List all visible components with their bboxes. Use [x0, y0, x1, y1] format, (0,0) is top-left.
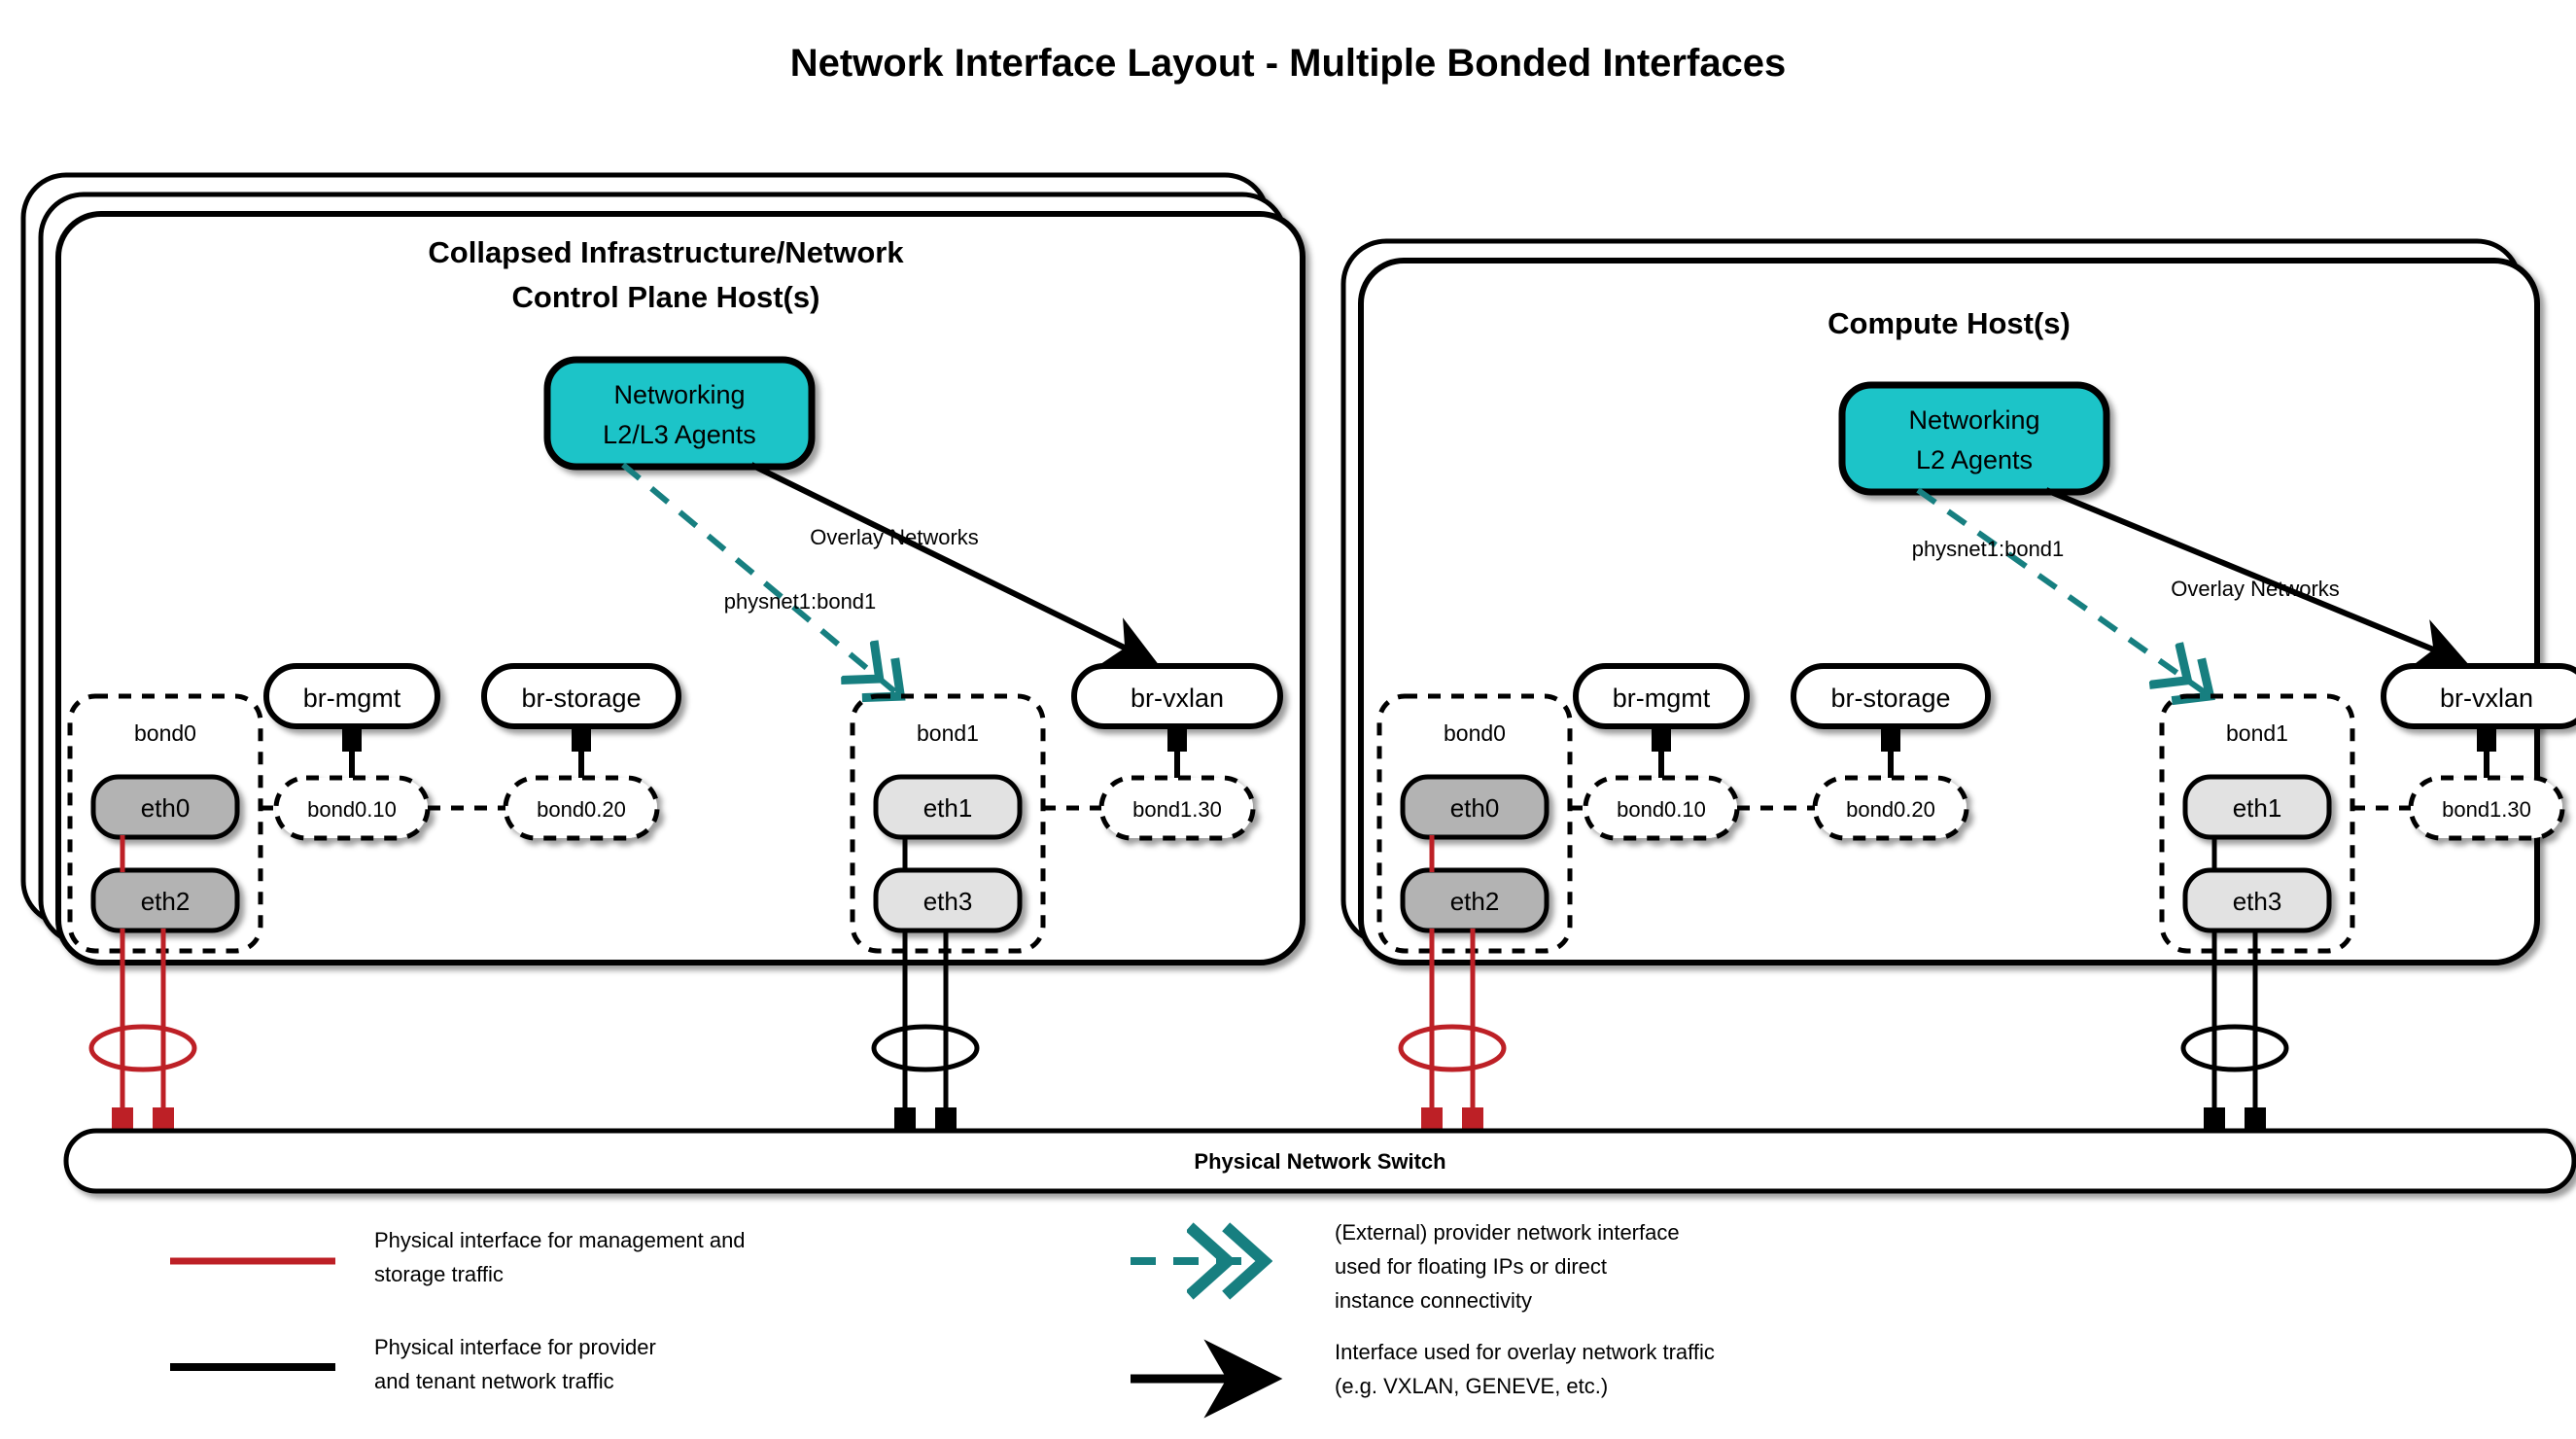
bond-grouping-indicator	[874, 1027, 977, 1070]
vlan-interface-label: bond0.10	[307, 797, 397, 822]
legend-text-line: storage traffic	[374, 1262, 504, 1286]
interface-label-eth1: eth1	[923, 793, 973, 823]
overlay-network-edge-label: Overlay Networks	[2171, 577, 2340, 601]
bond-grouping-indicator	[2183, 1027, 2286, 1070]
legend-text-line: used for floating IPs or direct	[1335, 1254, 1607, 1279]
legend-item-legend-red: Physical interface for management andsto…	[170, 1228, 746, 1286]
switch-port	[1421, 1107, 1443, 1131]
bond-label: bond1	[2226, 720, 2288, 746]
legend-item-legend-black: Physical interface for providerand tenan…	[170, 1335, 656, 1393]
switch-port	[2245, 1107, 2266, 1131]
bridge-label: br-vxlan	[1131, 684, 1224, 713]
bond-label: bond0	[134, 720, 196, 746]
bridge-label: br-mgmt	[1613, 684, 1711, 713]
agent-label-line1: Networking	[1908, 405, 2039, 435]
switch-port	[894, 1107, 916, 1131]
switch-port	[153, 1107, 174, 1131]
bridge-port-stub	[1652, 726, 1671, 752]
agent-box[interactable]	[547, 360, 812, 467]
bridge-port-stub	[2477, 726, 2496, 752]
vlan-interface-label: bond1.30	[2442, 797, 2531, 822]
interface-label-eth3: eth3	[2233, 887, 2282, 916]
legend-text-line: (e.g. VXLAN, GENEVE, etc.)	[1335, 1374, 1608, 1398]
legend-text-line: instance connectivity	[1335, 1288, 1532, 1313]
interface-label-eth0: eth0	[1450, 793, 1500, 823]
agent-label-line1: Networking	[613, 380, 745, 409]
provider-network-edge-label: physnet1:bond1	[724, 589, 877, 614]
bridge-port-stub	[572, 726, 591, 752]
switch-port	[112, 1107, 133, 1131]
interface-label-eth2: eth2	[141, 887, 191, 916]
vlan-interface-label: bond0.20	[537, 797, 626, 822]
agent-label-line2: L2 Agents	[1916, 445, 2033, 474]
interface-label-eth1: eth1	[2233, 793, 2282, 823]
bond-grouping-indicator	[91, 1027, 194, 1070]
legend-text-line: Physical interface for management and	[374, 1228, 746, 1252]
bridge-label: br-storage	[521, 684, 641, 713]
interface-label-eth0: eth0	[141, 793, 191, 823]
vlan-interface-label: bond1.30	[1132, 797, 1222, 822]
legend: Physical interface for management andsto…	[170, 1220, 1715, 1398]
interface-label-eth3: eth3	[923, 887, 973, 916]
bond-label: bond1	[917, 720, 979, 746]
legend-item-legend-teal: (External) provider network interfaceuse…	[1131, 1220, 1680, 1313]
bond-grouping-indicator	[1401, 1027, 1504, 1070]
agent-box[interactable]	[1842, 385, 2106, 492]
provider-network-edge-label: physnet1:bond1	[1912, 537, 2065, 561]
host-card	[58, 214, 1303, 963]
physical-switch: Physical Network Switch	[66, 1131, 2574, 1191]
host-card	[1361, 261, 2537, 963]
vlan-interface-label: bond0.20	[1846, 797, 1935, 822]
network-diagram: Network Interface Layout - Multiple Bond…	[0, 0, 2576, 1439]
legend-text-line: and tenant network traffic	[374, 1369, 614, 1393]
hosts-layer: Collapsed Infrastructure/NetworkControl …	[23, 175, 2576, 1131]
host-panel-control-plane: Collapsed Infrastructure/NetworkControl …	[23, 175, 1303, 1131]
host-title-line2: Control Plane Host(s)	[512, 280, 820, 314]
bridge-label: br-storage	[1830, 684, 1950, 713]
bond-label: bond0	[1444, 720, 1506, 746]
vlan-interface-label: bond0.10	[1617, 797, 1706, 822]
legend-item-legend-overlay: Interface used for overlay network traff…	[1131, 1340, 1715, 1398]
host-title-line1: Compute Host(s)	[1828, 306, 2071, 340]
bridge-port-stub	[1167, 726, 1187, 752]
bridge-label: br-mgmt	[303, 684, 401, 713]
host-title-line1: Collapsed Infrastructure/Network	[428, 235, 904, 269]
legend-text-line: Interface used for overlay network traff…	[1335, 1340, 1715, 1364]
bridge-port-stub	[1881, 726, 1900, 752]
switch-label: Physical Network Switch	[1194, 1149, 1445, 1174]
bridge-label: br-vxlan	[2440, 684, 2533, 713]
legend-text-line: Physical interface for provider	[374, 1335, 656, 1359]
agent-label-line2: L2/L3 Agents	[603, 420, 756, 449]
page-title: Network Interface Layout - Multiple Bond…	[790, 42, 1787, 85]
interface-label-eth2: eth2	[1450, 887, 1500, 916]
legend-text-line: (External) provider network interface	[1335, 1220, 1680, 1245]
host-panel-compute: Compute Host(s)NetworkingL2 Agentsphysne…	[1343, 241, 2576, 1131]
overlay-network-edge-label: Overlay Networks	[810, 525, 979, 549]
switch-port	[2204, 1107, 2225, 1131]
switch-port	[935, 1107, 957, 1131]
bridge-port-stub	[342, 726, 362, 752]
switch-port	[1462, 1107, 1483, 1131]
